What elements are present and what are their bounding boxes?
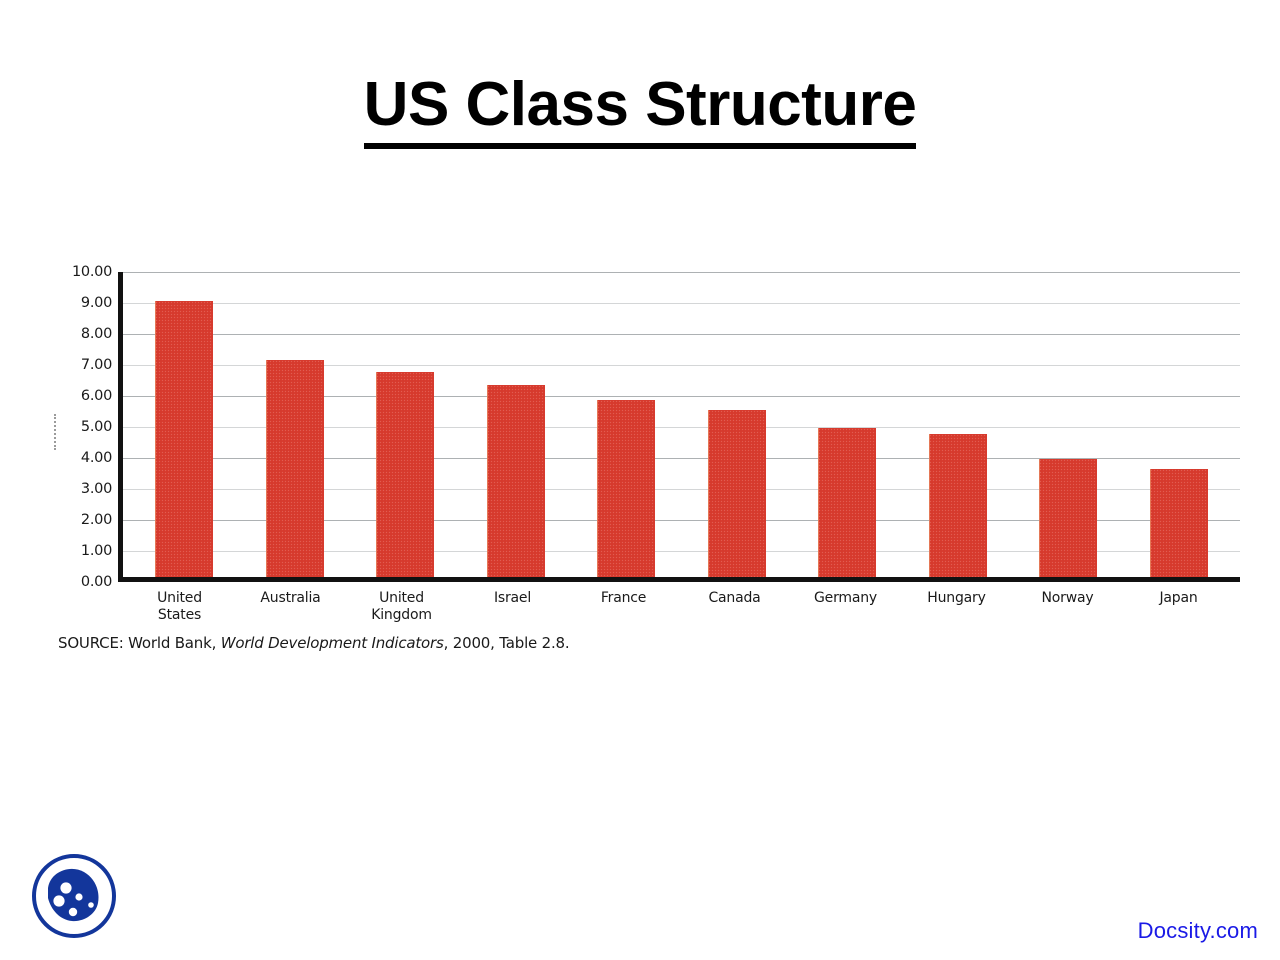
x-axis-tick-line: United: [124, 590, 235, 607]
docsity-wordmark: Docsity.com: [1138, 918, 1258, 944]
x-axis: UnitedStatesAustraliaUnitedKingdomIsrael…: [118, 584, 1240, 636]
bar: [1039, 459, 1097, 577]
bar-series: [123, 272, 1240, 577]
y-axis-tick-label: 10.00: [72, 264, 112, 280]
x-axis-tick-label: UnitedKingdom: [346, 584, 457, 636]
bar: [929, 434, 987, 577]
plot-area: [118, 272, 1240, 582]
x-axis-tick-line: Kingdom: [346, 607, 457, 624]
x-axis-tick-label: UnitedStates: [124, 584, 235, 636]
source-note: SOURCE: World Bank, World Development In…: [58, 634, 569, 652]
x-axis-tick-line: Japan: [1123, 590, 1234, 607]
bar-slot: [571, 272, 682, 577]
x-axis-tick-line: Hungary: [901, 590, 1012, 607]
bar-chart: 10.009.008.007.006.005.004.003.002.001.0…: [50, 272, 1246, 592]
x-axis-tick-label: Australia: [235, 584, 346, 636]
docsity-logo-icon: [26, 848, 122, 944]
source-prefix: SOURCE: World Bank,: [58, 634, 221, 652]
x-axis-tick-line: France: [568, 590, 679, 607]
bar-slot: [792, 272, 903, 577]
x-axis-tick-label: Hungary: [901, 584, 1012, 636]
y-axis-tick-label: 3.00: [81, 481, 112, 497]
source-publication-title: World Development Indicators: [221, 634, 444, 652]
x-axis-tick-line: Germany: [790, 590, 901, 607]
y-axis: 10.009.008.007.006.005.004.003.002.001.0…: [50, 272, 112, 582]
y-axis-tick-label: 7.00: [81, 357, 112, 373]
x-axis-tick-line: United: [346, 590, 457, 607]
x-axis-tick-label: Israel: [457, 584, 568, 636]
x-axis-tick-line: States: [124, 607, 235, 624]
bar-slot: [461, 272, 572, 577]
bar: [1150, 469, 1208, 578]
x-axis-tick-label: Norway: [1012, 584, 1123, 636]
y-axis-tick-label: 6.00: [81, 388, 112, 404]
bar: [597, 400, 655, 577]
y-axis-tick-label: 8.00: [81, 326, 112, 342]
bar: [708, 410, 766, 577]
y-axis-tick-label: 5.00: [81, 419, 112, 435]
x-axis-tick-label: Canada: [679, 584, 790, 636]
bar: [818, 428, 876, 577]
bar-slot: [240, 272, 351, 577]
y-axis-tick-label: 9.00: [81, 295, 112, 311]
bar-slot: [129, 272, 240, 577]
y-axis-tick-label: 1.00: [81, 543, 112, 559]
bar: [266, 360, 324, 577]
bar-slot: [350, 272, 461, 577]
y-axis-tick-label: 4.00: [81, 450, 112, 466]
chart-figure: 10.009.008.007.006.005.004.003.002.001.0…: [50, 272, 1246, 662]
x-axis-tick-label: France: [568, 584, 679, 636]
bar-slot: [1124, 272, 1235, 577]
page-title-text: US Class Structure: [364, 72, 917, 149]
bar-slot: [682, 272, 793, 577]
x-axis-tick-line: Canada: [679, 590, 790, 607]
bar-slot: [1013, 272, 1124, 577]
y-axis-tick-label: 0.00: [81, 574, 112, 590]
bar: [155, 301, 213, 577]
bar: [487, 385, 545, 577]
x-axis-tick-line: Israel: [457, 590, 568, 607]
x-axis-tick-label: Japan: [1123, 584, 1234, 636]
x-axis-tick-line: Norway: [1012, 590, 1123, 607]
page-title: US Class Structure: [0, 72, 1280, 149]
y-axis-tick-label: 2.00: [81, 512, 112, 528]
y-axis-caption-remnant: [54, 414, 59, 450]
x-axis-tick-label: Germany: [790, 584, 901, 636]
x-axis-tick-line: Australia: [235, 590, 346, 607]
bar-slot: [903, 272, 1014, 577]
source-suffix: , 2000, Table 2.8.: [444, 634, 570, 652]
bar: [376, 372, 434, 577]
